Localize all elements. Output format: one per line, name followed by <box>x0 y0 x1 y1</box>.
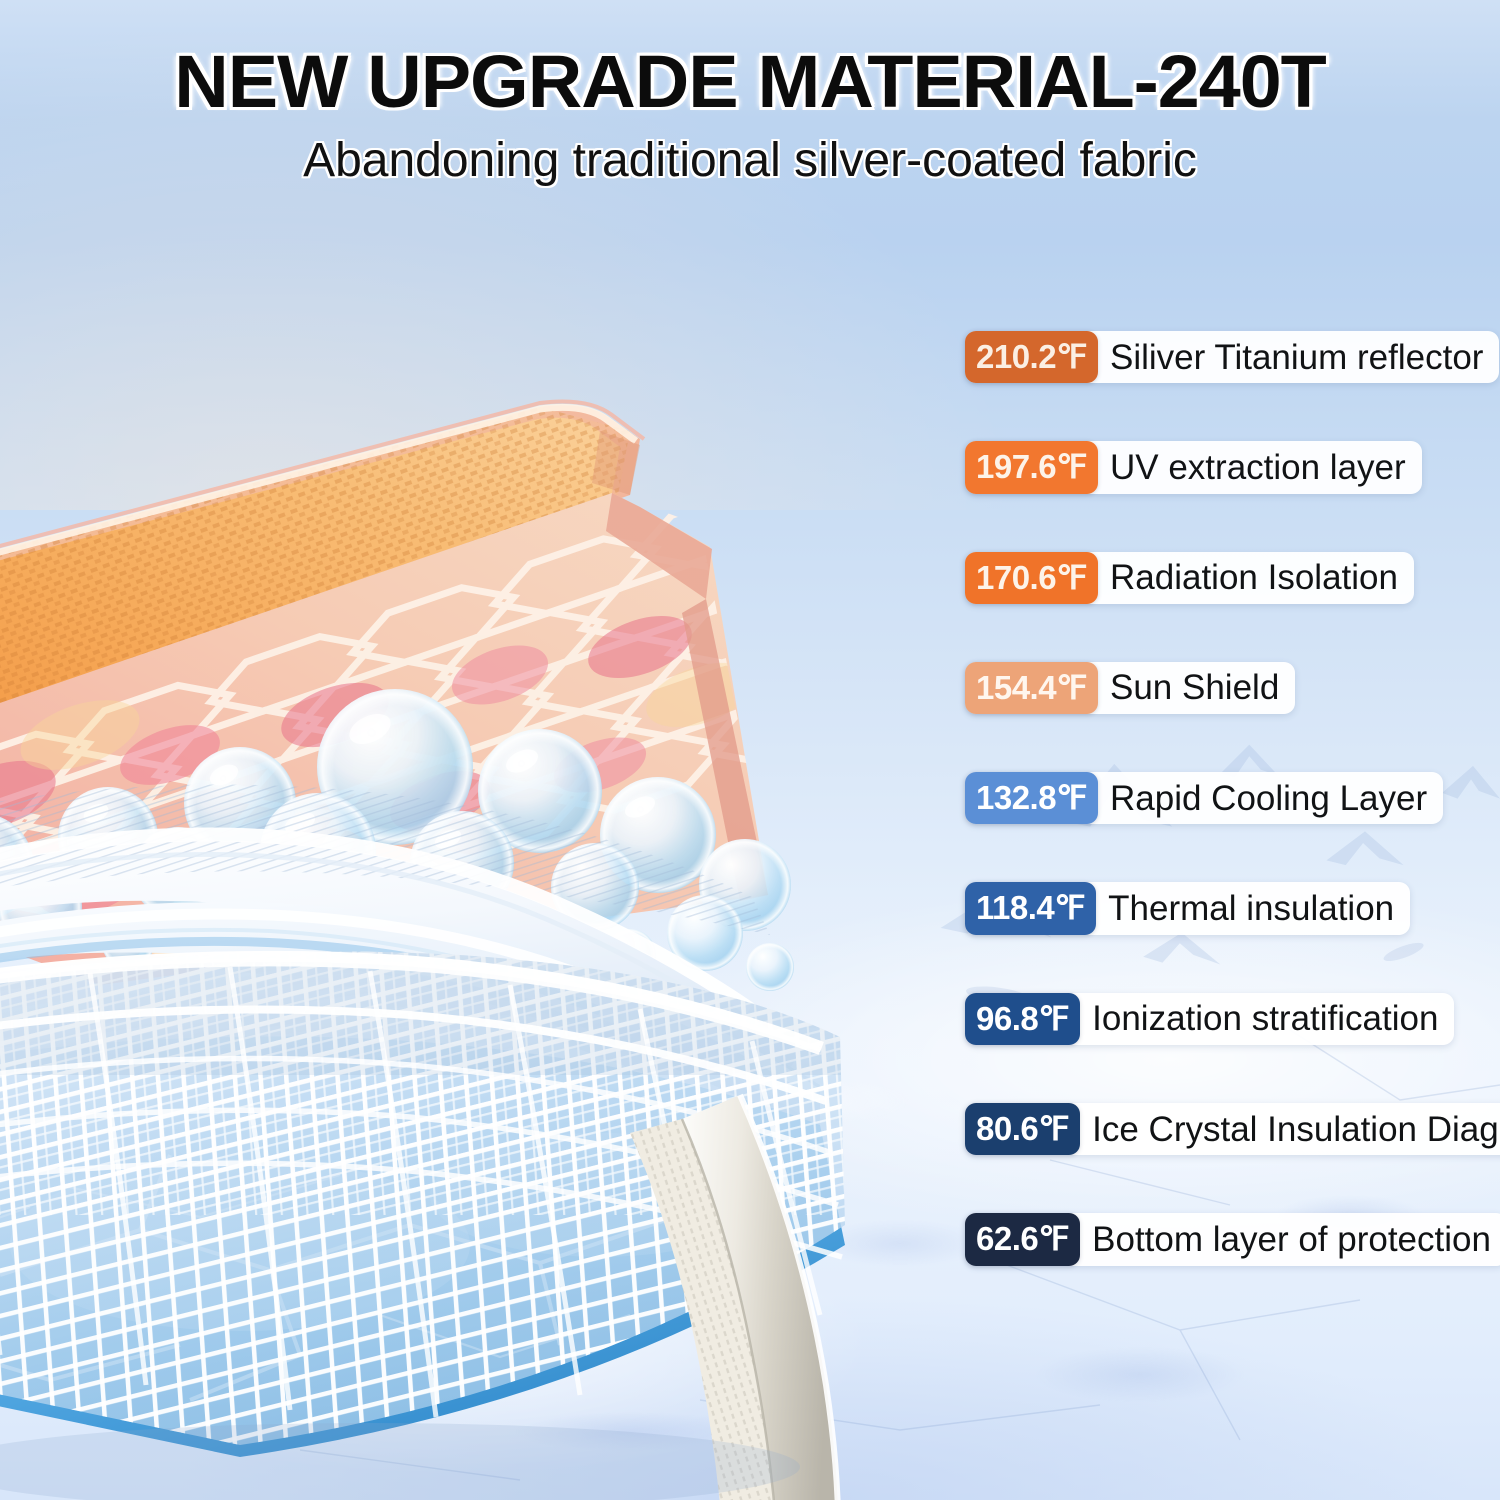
legend-row: 132.8℉Rapid Cooling Layer <box>965 772 1443 824</box>
product-cutaway-illustration <box>0 195 1000 1485</box>
temperature-badge: 96.8℉ <box>965 993 1080 1045</box>
legend-row: 154.4℉Sun Shield <box>965 662 1295 714</box>
temperature-badge: 197.6℉ <box>965 441 1098 493</box>
temperature-badge: 118.4℉ <box>965 882 1096 934</box>
legend-row: 96.8℉Ionization stratification <box>965 993 1454 1045</box>
page-subtitle: Abandoning traditional silver-coated fab… <box>0 133 1500 188</box>
layer-name-label: Ice Crystal Insulation Diagram <box>1080 1103 1500 1155</box>
legend-row: 210.2℉Siliver Titanium reflector <box>965 331 1499 383</box>
legend-row: 80.6℉Ice Crystal Insulation Diagram <box>965 1103 1500 1155</box>
layer-name-label: Thermal insulation <box>1096 882 1410 934</box>
page-title: NEW UPGRADE MATERIAL-240T <box>0 44 1500 119</box>
temperature-badge: 132.8℉ <box>965 772 1098 824</box>
layer-name-label: Ionization stratification <box>1080 993 1454 1045</box>
layer-name-label: UV extraction layer <box>1098 441 1422 493</box>
temperature-badge: 154.4℉ <box>965 662 1098 714</box>
temperature-badge: 170.6℉ <box>965 552 1098 604</box>
infographic-canvas: NEW UPGRADE MATERIAL-240T Abandoning tra… <box>0 0 1500 1500</box>
layer-legend-list: 210.2℉Siliver Titanium reflector197.6℉UV… <box>965 331 1485 1266</box>
legend-row: 170.6℉Radiation Isolation <box>965 552 1414 604</box>
legend-row: 62.6℉Bottom layer of protection <box>965 1213 1500 1265</box>
legend-row: 118.4℉Thermal insulation <box>965 882 1410 934</box>
temperature-badge: 210.2℉ <box>965 331 1098 383</box>
layer-name-label: Radiation Isolation <box>1098 552 1414 604</box>
layer-name-label: Sun Shield <box>1098 662 1295 714</box>
temperature-badge: 62.6℉ <box>965 1213 1080 1265</box>
layer-name-label: Bottom layer of protection <box>1080 1213 1500 1265</box>
title-block: NEW UPGRADE MATERIAL-240T Abandoning tra… <box>0 44 1500 188</box>
temperature-badge: 80.6℉ <box>965 1103 1080 1155</box>
layer-name-label: Rapid Cooling Layer <box>1098 772 1443 824</box>
layer-name-label: Siliver Titanium reflector <box>1098 331 1499 383</box>
legend-row: 197.6℉UV extraction layer <box>965 441 1422 493</box>
